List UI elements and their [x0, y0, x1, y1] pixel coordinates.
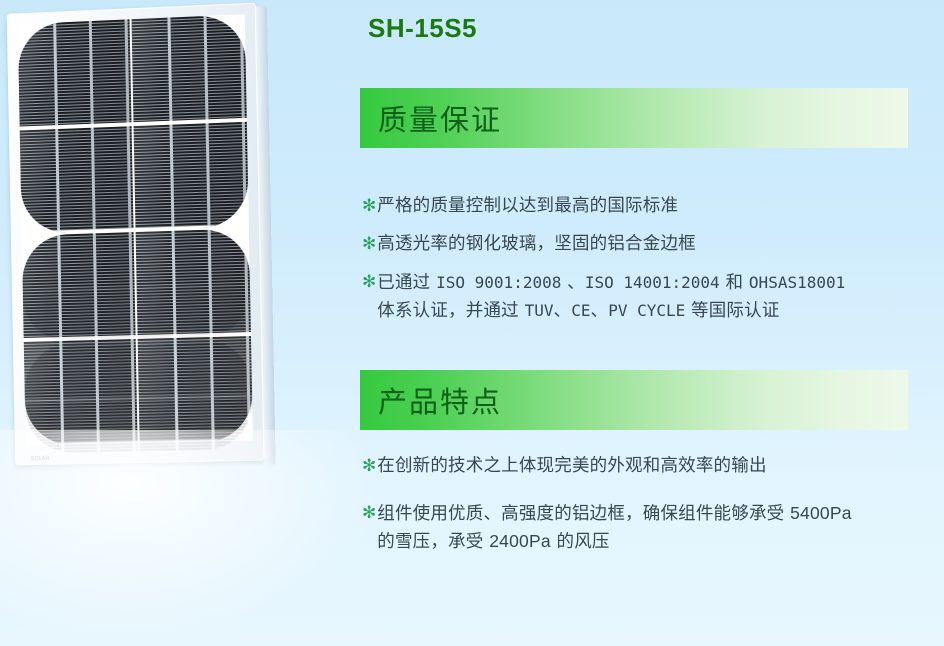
cert-line2-post: 等国际认证 — [685, 301, 779, 321]
solar-cell — [24, 343, 137, 399]
list-item: ✻ 在创新的技术之上体现完美的外观和高效率的输出 — [362, 453, 940, 480]
list-item: ✻ 严格的质量控制以达到最高的国际标准 — [362, 193, 940, 220]
star-bullet-icon: ✻ — [362, 193, 376, 219]
bullet-list-features: ✻ 在创新的技术之上体现完美的外观和高效率的输出 ✻ 组件使用优质、高强度的铝边… — [362, 453, 940, 567]
solar-cell — [25, 398, 138, 453]
cert-line1-pre: 已通过 — [377, 273, 436, 293]
load-line2-post: 的风压 — [551, 532, 610, 552]
star-bullet-icon: ✻ — [362, 269, 376, 295]
solar-cell — [18, 19, 132, 128]
solar-cell — [139, 395, 253, 451]
star-bullet-icon: ✻ — [362, 453, 376, 479]
solar-cell — [136, 228, 250, 285]
reflection-frame — [11, 208, 265, 464]
cell-shading — [132, 14, 247, 123]
section-title-features: 产品特点 — [360, 379, 502, 421]
list-item: ✻ 组件使用优质、高强度的铝边框，确保组件能够承受 5400Pa的雪压，承受 2… — [362, 500, 940, 556]
solar-cell — [23, 287, 136, 343]
list-item: ✻ 已通过 ISO 9001:2008 、ISO 14001:2004 和 OH… — [362, 269, 940, 325]
section-band-features: 产品特点 — [360, 370, 908, 430]
cert-line1-mid: 、 — [561, 273, 584, 293]
list-item-text: 在创新的技术之上体现完美的外观和高效率的输出 — [377, 453, 766, 480]
list-item-text: 严格的质量控制以达到最高的国际标准 — [377, 193, 678, 220]
cert-ce: CE — [571, 301, 590, 320]
cert-ohsas18001: OHSAS18001 — [749, 273, 845, 292]
cert-line2-pre: 体系认证，并通过 — [377, 301, 524, 321]
cert-iso14001: ISO 14001:2004 — [585, 273, 720, 292]
list-item-text: 组件使用优质、高强度的铝边框，确保组件能够承受 5400Pa的雪压，承受 240… — [377, 500, 851, 556]
cert-line2-mid2: 、 — [591, 301, 609, 321]
product-spec-page: SOLAR — [0, 0, 944, 646]
product-model-title: SH-15S5 — [368, 13, 477, 44]
product-content: SH-15S5 质量保证 ✻ 严格的质量控制以达到最高的国际标准 ✻ 高透光率的… — [360, 0, 944, 646]
wind-load-value: 2400Pa — [489, 531, 551, 551]
cert-line1-mid2: 和 — [720, 273, 749, 293]
cell-shading — [18, 19, 132, 128]
bullet-list-quality: ✻ 严格的质量控制以达到最高的国际标准 ✻ 高透光率的钢化玻璃，坚固的铝合金边框… — [362, 193, 940, 336]
solar-cell — [22, 232, 135, 288]
list-item: ✻ 高透光率的钢化玻璃，坚固的铝合金边框 — [362, 231, 940, 258]
section-title-quality: 质量保证 — [360, 97, 502, 139]
snow-load-value: 5400Pa — [790, 503, 852, 523]
solar-panel-photo: SOLAR — [0, 0, 340, 646]
list-item-text: 高透光率的钢化玻璃，坚固的铝合金边框 — [377, 231, 696, 258]
cert-tuv: TUV — [525, 301, 554, 320]
reflection-laminate — [22, 228, 253, 453]
solar-cell — [137, 284, 251, 341]
cert-pvcycle: PV CYCLE — [608, 301, 685, 320]
load-line2-pre: 的雪压，承受 — [377, 532, 489, 552]
star-bullet-icon: ✻ — [362, 500, 376, 526]
list-item-text: 已通过 ISO 9001:2008 、ISO 14001:2004 和 OHSA… — [377, 269, 845, 325]
solar-cell — [138, 340, 252, 396]
star-bullet-icon: ✻ — [362, 231, 376, 257]
cert-iso9001: ISO 9001:2008 — [436, 273, 561, 292]
solar-cell — [132, 14, 247, 123]
panel-mirror-reflection — [11, 208, 265, 464]
section-band-quality: 质量保证 — [360, 88, 908, 148]
reflection-cell-grid — [22, 228, 253, 453]
cert-line2-mid: 、 — [554, 301, 572, 321]
load-line1-pre: 组件使用优质、高强度的铝边框，确保组件能够承受 — [377, 504, 790, 524]
